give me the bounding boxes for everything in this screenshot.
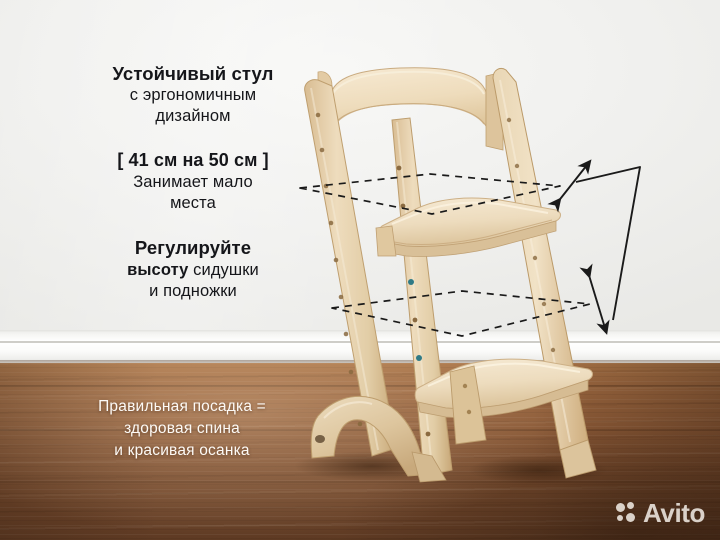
product-photo-stage: Устойчивый стул с эргономичным дизайном … — [0, 0, 720, 540]
copy-adjustable-line-3: и подножки — [68, 281, 318, 302]
marketing-copy-column: Устойчивый стул с эргономичным дизайном … — [68, 62, 318, 302]
copy-block-stability: Устойчивый стул с эргономичным дизайном — [68, 62, 318, 127]
floor-caption-line-2: здоровая спина — [62, 418, 302, 440]
copy-dimensions-line-3: места — [68, 193, 318, 214]
copy-adjustable-rest: сидушки — [188, 261, 258, 279]
avito-dots-logo-icon — [616, 502, 638, 524]
copy-adjustable-line-2: высоту сидушки — [68, 260, 318, 281]
avito-dot-3 — [617, 515, 623, 521]
floor-caption: Правильная посадка = здоровая спина и кр… — [62, 396, 302, 462]
avito-dot-1 — [616, 503, 625, 512]
seat-bracket-left — [376, 226, 396, 256]
floor-caption-line-3: и красивая осанка — [62, 440, 302, 462]
avito-dot-4 — [626, 513, 635, 522]
copy-adjustable-line-1: Регулируйте — [68, 236, 318, 259]
copy-block-adjustable: Регулируйте высоту сидушки и подножки — [68, 236, 318, 301]
copy-adjustable-emphasis: высоту — [127, 261, 188, 279]
avito-dot-2 — [627, 502, 634, 509]
base-runner-hole — [315, 435, 325, 443]
copy-stability-line-3: дизайном — [68, 106, 318, 127]
copy-dimensions-line-2: Занимает мало — [68, 172, 318, 193]
avito-watermark: Avito — [616, 500, 705, 526]
avito-wordmark: Avito — [643, 500, 705, 526]
floor-caption-line-1: Правильная посадка = — [62, 396, 302, 418]
copy-dimensions-value: [ 41 см на 50 см ] — [68, 149, 318, 172]
copy-stability-line-1: Устойчивый стул — [68, 62, 318, 85]
copy-block-dimensions: [ 41 см на 50 см ] Занимает мало места — [68, 149, 318, 214]
copy-stability-line-2: с эргономичным — [68, 85, 318, 106]
